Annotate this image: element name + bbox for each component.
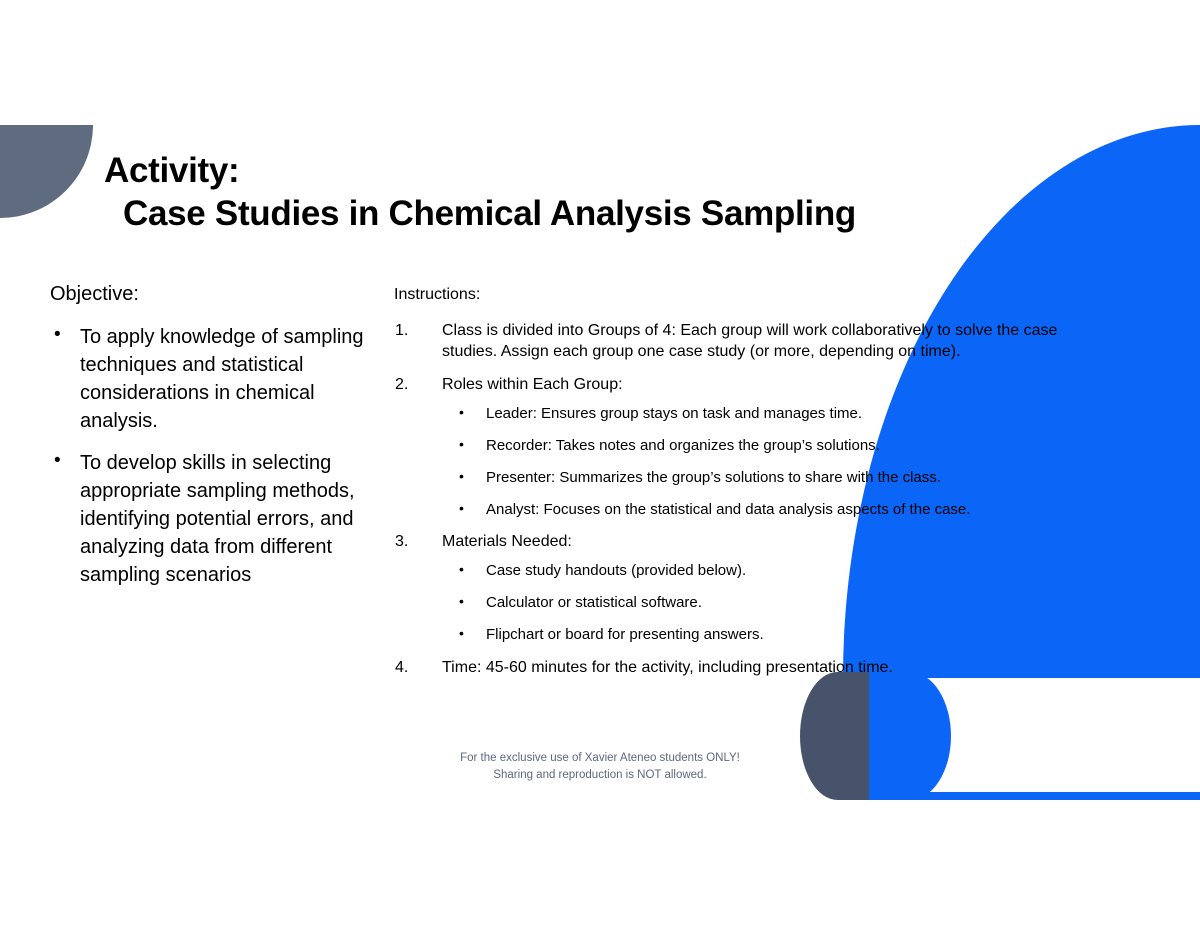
list-item: 2. Roles within Each Group: • Leader: En… [394, 374, 1104, 519]
bullet-icon: • [54, 448, 61, 475]
subitem-text: Calculator or statistical software. [486, 594, 702, 611]
footer-notice: For the exclusive use of Xavier Ateneo s… [0, 750, 1200, 783]
page-title: Activity: Case Studies in Chemical Analy… [104, 150, 1004, 235]
list-item: • Leader: Ensures group stays on task an… [442, 404, 1104, 424]
instructions-list: 1. Class is divided into Groups of 4: Ea… [394, 320, 1104, 678]
bullet-icon: • [459, 467, 464, 485]
decorative-blue-base-bar [869, 792, 1200, 800]
instruction-sublist: • Leader: Ensures group stays on task an… [442, 404, 1104, 519]
list-item: 1. Class is divided into Groups of 4: Ea… [394, 320, 1104, 362]
instruction-sublist: • Case study handouts (provided below). … [442, 561, 1104, 644]
list-item: • Case study handouts (provided below). [442, 561, 1104, 581]
instruction-number: 1. [395, 320, 408, 341]
bullet-icon: • [459, 499, 464, 517]
bullet-icon: • [459, 624, 464, 642]
list-item: • Analyst: Focuses on the statistical an… [442, 500, 1104, 520]
title-line-2: Case Studies in Chemical Analysis Sampli… [104, 193, 1004, 236]
list-item: • Calculator or statistical software. [442, 593, 1104, 613]
objective-item-text: To apply knowledge of sampling technique… [80, 326, 364, 432]
instruction-number: 2. [395, 374, 408, 395]
list-item: • To apply knowledge of sampling techniq… [50, 323, 370, 435]
subitem-text: Leader: Ensures group stays on task and … [486, 405, 862, 422]
list-item: • Presenter: Summarizes the group’s solu… [442, 468, 1104, 488]
slide-canvas: Activity: Case Studies in Chemical Analy… [0, 125, 1200, 800]
instructions-section: Instructions: 1. Class is divided into G… [394, 285, 1104, 690]
list-item: • To develop skills in selecting appropr… [50, 449, 370, 589]
subitem-text: Presenter: Summarizes the group’s soluti… [486, 469, 941, 486]
list-item: • Flipchart or board for presenting answ… [442, 625, 1104, 645]
instruction-number: 3. [395, 531, 408, 552]
footer-line-2: Sharing and reproduction is NOT allowed. [0, 767, 1200, 784]
subitem-text: Analyst: Focuses on the statistical and … [486, 501, 970, 518]
instruction-text: Class is divided into Groups of 4: Each … [442, 322, 1057, 360]
instruction-text: Roles within Each Group: [442, 376, 623, 393]
bullet-icon: • [459, 592, 464, 610]
objective-list: • To apply knowledge of sampling techniq… [50, 323, 370, 589]
subitem-text: Flipchart or board for presenting answer… [486, 626, 764, 643]
objective-item-text: To develop skills in selecting appropria… [80, 452, 355, 586]
footer-line-1: For the exclusive use of Xavier Ateneo s… [0, 750, 1200, 767]
decorative-gray-quarter-circle-icon [0, 125, 93, 218]
bullet-icon: • [459, 560, 464, 578]
title-line-1: Activity: [104, 150, 1004, 193]
objective-section: Objective: • To apply knowledge of sampl… [50, 282, 370, 603]
instruction-text: Time: 45-60 minutes for the activity, in… [442, 659, 893, 676]
bullet-icon: • [459, 403, 464, 421]
instruction-text: Materials Needed: [442, 533, 572, 550]
instruction-number: 4. [395, 657, 408, 678]
subitem-text: Recorder: Takes notes and organizes the … [486, 437, 880, 454]
bullet-icon: • [54, 322, 61, 349]
instructions-heading: Instructions: [394, 285, 1104, 306]
bullet-icon: • [459, 435, 464, 453]
subitem-text: Case study handouts (provided below). [486, 562, 746, 579]
objective-heading: Objective: [50, 282, 370, 307]
list-item: 4. Time: 45-60 minutes for the activity,… [394, 657, 1104, 678]
list-item: • Recorder: Takes notes and organizes th… [442, 436, 1104, 456]
list-item: 3. Materials Needed: • Case study handou… [394, 531, 1104, 645]
